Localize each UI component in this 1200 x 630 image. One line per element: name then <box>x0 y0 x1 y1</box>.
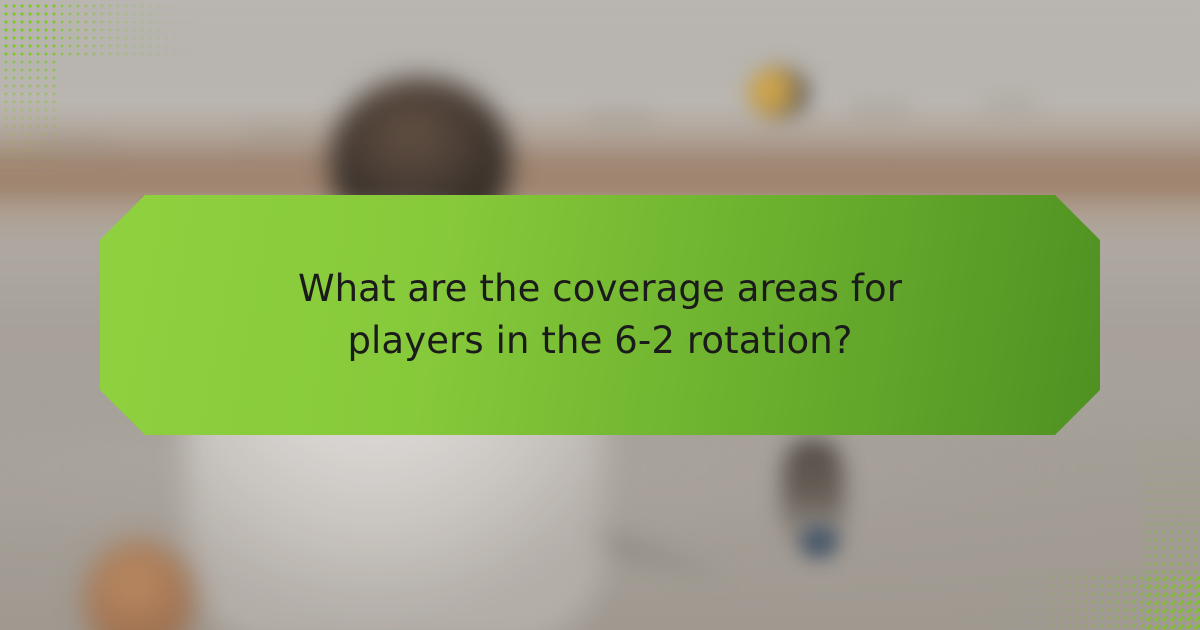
dot-pattern-top-left-column <box>0 0 58 200</box>
social-share-card: What are the coverage areas for players … <box>0 0 1200 630</box>
headline-banner: What are the coverage areas for players … <box>100 195 1100 435</box>
dot-pattern-bottom-right-column <box>1142 430 1200 630</box>
headline-text: What are the coverage areas for players … <box>230 263 970 367</box>
